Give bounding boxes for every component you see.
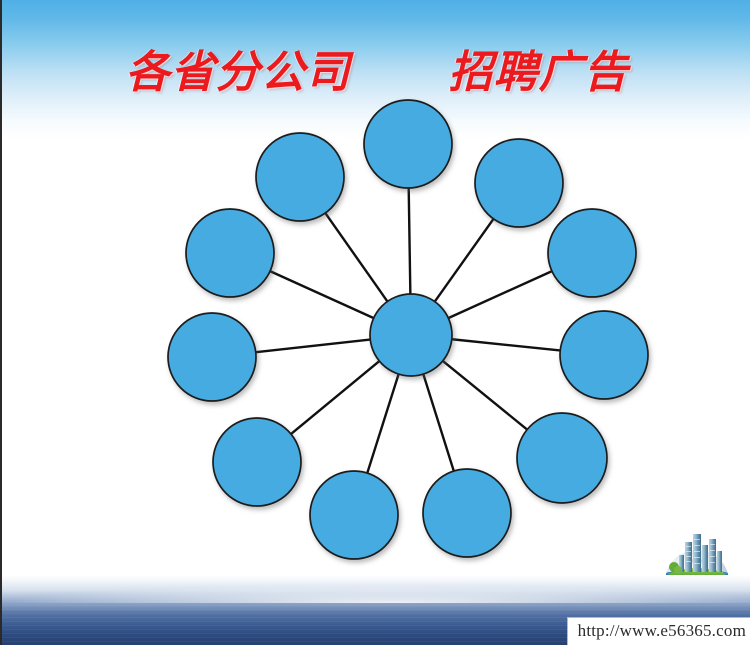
hub-node-group [370, 294, 452, 376]
spoke-line-8 [290, 360, 380, 434]
diagram-node-1[interactable] [364, 100, 452, 188]
slide-canvas: 各省分公司 招聘广告 [0, 0, 750, 645]
spoke-line-11 [325, 212, 388, 302]
diagram-node-7[interactable] [310, 471, 398, 559]
diagram-svg [2, 0, 750, 645]
spoke-line-1 [409, 187, 411, 295]
watermark-url: http://www.e56365.com [567, 617, 750, 645]
diagram-node-4[interactable] [560, 311, 648, 399]
spoke-line-7 [367, 373, 399, 474]
diagram-node-10[interactable] [186, 209, 274, 297]
diagram-node-3[interactable] [548, 209, 636, 297]
spoke-line-10 [269, 271, 374, 319]
diagram-node-8[interactable] [213, 418, 301, 506]
hub-and-spoke-diagram [2, 0, 750, 645]
diagram-node-6[interactable] [423, 469, 511, 557]
diagram-node-5[interactable] [517, 413, 607, 503]
diagram-hub-node[interactable] [370, 294, 452, 376]
spoke-line-5 [442, 360, 528, 430]
diagram-node-2[interactable] [475, 139, 563, 227]
diagram-node-11[interactable] [256, 133, 344, 221]
spoke-line-9 [255, 339, 372, 352]
spoke-line-4 [451, 339, 561, 350]
spoke-line-3 [447, 271, 552, 319]
diagram-node-9[interactable] [168, 313, 256, 401]
city-skyline [669, 534, 722, 574]
spoke-line-6 [423, 373, 454, 472]
spoke-line-2 [434, 218, 494, 302]
